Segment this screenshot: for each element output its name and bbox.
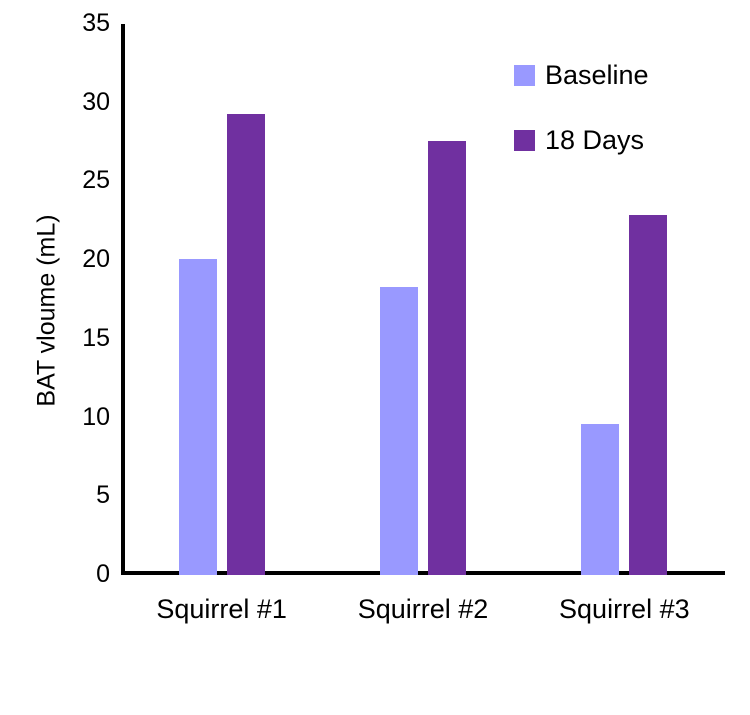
x-axis-tick-label: Squirrel #3 bbox=[524, 592, 724, 626]
bar-chart-figure: BAT vloume (mL) 05101520253035 Squirrel … bbox=[0, 0, 750, 715]
bar bbox=[227, 114, 265, 575]
legend-swatch-icon bbox=[514, 65, 535, 86]
chart-legend: Baseline18 Days bbox=[514, 55, 744, 185]
bar bbox=[380, 287, 418, 575]
legend-swatch-icon bbox=[514, 130, 535, 151]
y-axis-tick-label: 25 bbox=[58, 168, 110, 193]
y-axis-tick-label: 5 bbox=[58, 483, 110, 508]
y-axis-tick-labels: 05101520253035 bbox=[58, 0, 110, 715]
legend-label: Baseline bbox=[545, 60, 649, 90]
bar bbox=[581, 424, 619, 575]
x-axis-tick-labels: Squirrel #1Squirrel #2Squirrel #3 bbox=[121, 592, 725, 632]
y-axis-tick-label: 35 bbox=[58, 11, 110, 36]
bar bbox=[428, 141, 466, 576]
y-axis-tick-label: 10 bbox=[58, 405, 110, 430]
x-axis-tick-label: Squirrel #1 bbox=[122, 592, 322, 626]
legend-entry: Baseline bbox=[514, 55, 744, 95]
bar bbox=[179, 259, 217, 575]
y-axis-tick-label: 0 bbox=[58, 562, 110, 587]
y-axis-tick-label: 20 bbox=[58, 247, 110, 272]
bar bbox=[629, 215, 667, 576]
legend-label: 18 Days bbox=[545, 125, 644, 155]
y-axis-tick-label: 30 bbox=[58, 90, 110, 115]
legend-entry: 18 Days bbox=[514, 120, 744, 160]
y-axis-tick-label: 15 bbox=[58, 326, 110, 351]
x-axis-tick-label: Squirrel #2 bbox=[323, 592, 523, 626]
